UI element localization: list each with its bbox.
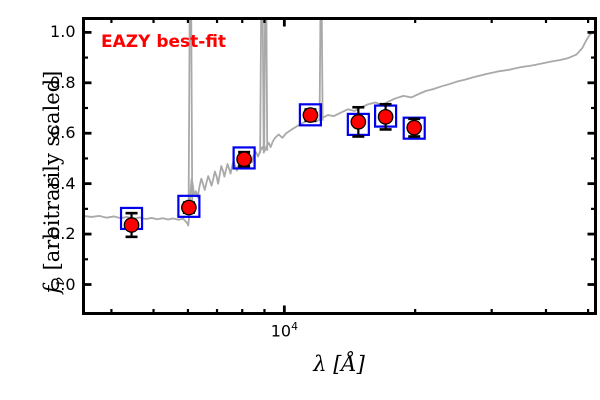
eazy-bestfit-annotation: EAZY best-fit [101, 32, 226, 52]
figure-canvas: EAZY best-fit fν [arbitrarily scaled] λ … [0, 0, 600, 400]
x-tick-label: 104 [254, 320, 314, 340]
spectrum-line [84, 32, 596, 225]
y-tick-label: 0.6 [36, 123, 76, 142]
y-tick-label: 0.0 [36, 275, 76, 294]
y-tick-label: 1.0 [36, 22, 76, 41]
chart-plot-area [0, 0, 600, 400]
y-tick-label: 0.2 [36, 224, 76, 243]
y-tick-label: 0.4 [36, 174, 76, 193]
x-axis-label: λ [Å] [83, 352, 595, 376]
y-tick-label: 0.8 [36, 73, 76, 92]
model-photometry-squares [121, 104, 425, 229]
axes-frame [84, 19, 596, 314]
